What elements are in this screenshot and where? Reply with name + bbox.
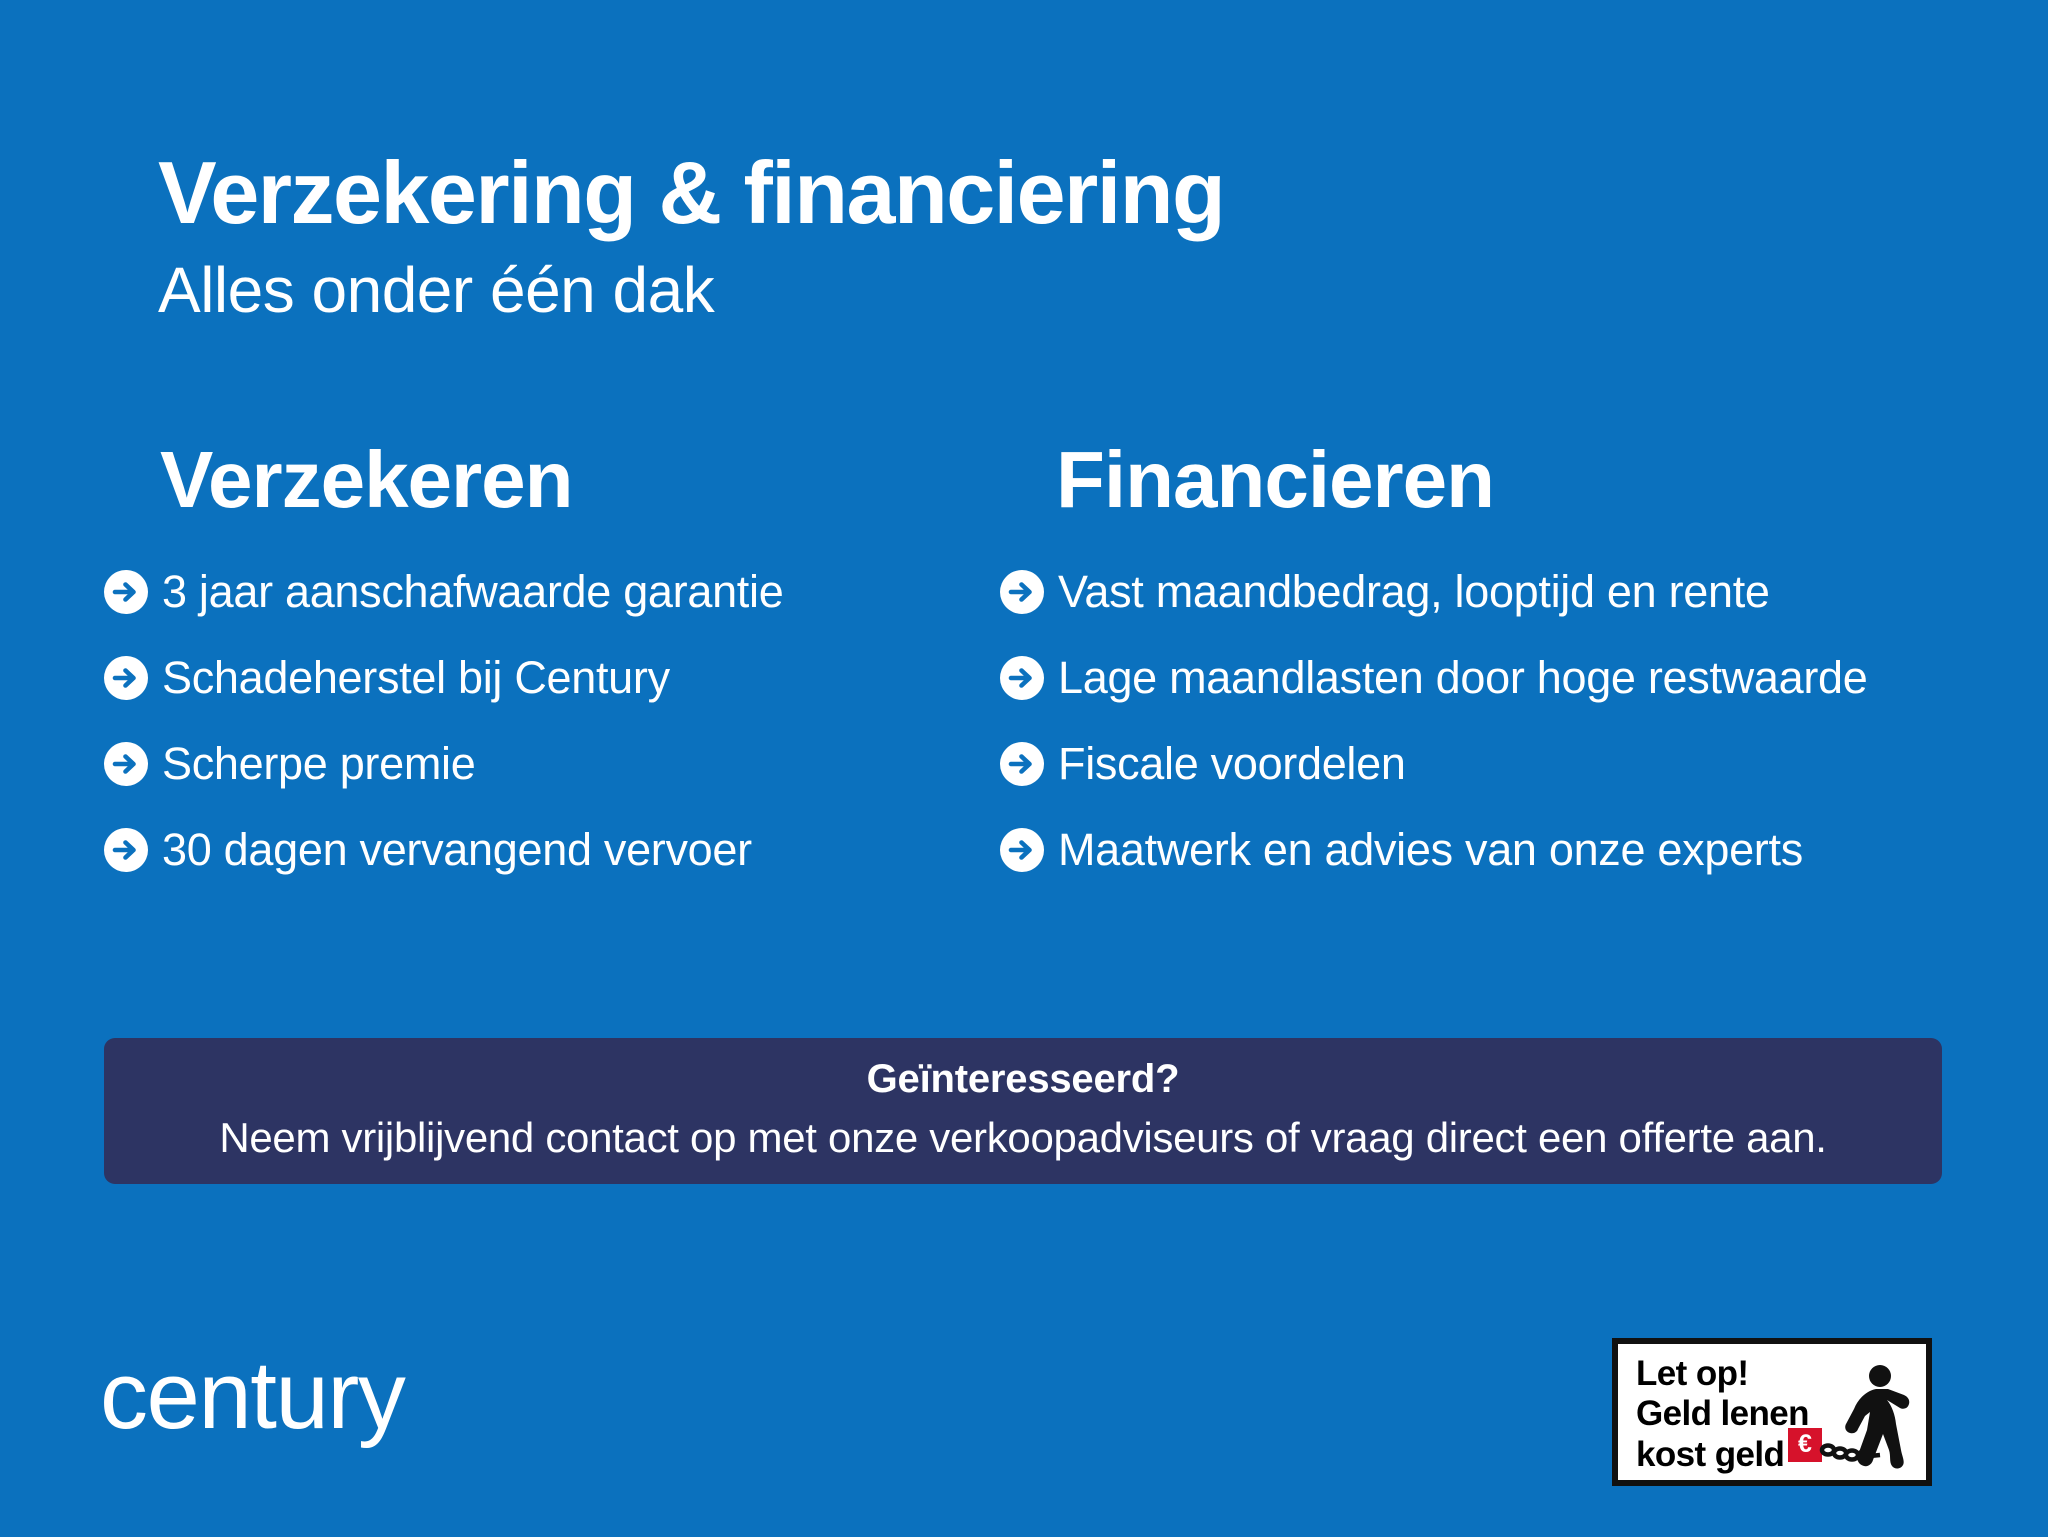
list-item-label: Fiscale voordelen — [1058, 739, 1406, 789]
column-heading-verzekeren: Verzekeren — [104, 440, 984, 520]
column-financieren: Financieren Vast maandbedrag, looptijd e… — [1000, 440, 2000, 908]
cta-heading: Geïnteresseerd? — [867, 1055, 1180, 1103]
bullet-list-financieren: Vast maandbedrag, looptijd en rente Lage… — [1000, 564, 2000, 878]
arrow-right-circle-icon — [104, 742, 148, 786]
list-item: Schadeherstel bij Century — [104, 650, 984, 706]
list-item-label: Lage maandlasten door hoge restwaarde — [1058, 653, 1867, 703]
list-item: Scherpe premie — [104, 736, 984, 792]
column-verzekeren: Verzekeren 3 jaar aanschafwaarde garanti… — [104, 440, 984, 908]
walking-person-euro-ball-and-chain-icon: € — [1788, 1362, 1920, 1474]
arrow-right-circle-icon — [104, 656, 148, 700]
list-item-label: Maatwerk en advies van onze experts — [1058, 825, 1803, 875]
column-heading-financieren: Financieren — [1000, 440, 2000, 520]
slide-root: Verzekering & financiering Alles onder é… — [0, 0, 2048, 1537]
list-item-label: 30 dagen vervangend vervoer — [162, 825, 752, 875]
arrow-right-circle-icon — [1000, 742, 1044, 786]
credit-warning-line-2: Geld lenen — [1636, 1394, 1809, 1434]
credit-warning-line-1: Let op! — [1636, 1354, 1809, 1394]
credit-warning-inner: Let op! Geld lenen kost geld € — [1618, 1344, 1926, 1480]
list-item: 3 jaar aanschafwaarde garantie — [104, 564, 984, 620]
cta-banner[interactable]: Geïnteresseerd? Neem vrijblijvend contac… — [104, 1038, 1942, 1184]
list-item-label: 3 jaar aanschafwaarde garantie — [162, 567, 783, 617]
list-item: Maatwerk en advies van onze experts — [1000, 822, 2000, 878]
list-item-label: Scherpe premie — [162, 739, 475, 789]
page-subtitle: Alles onder één dak — [158, 250, 1858, 330]
cta-body-text: Neem vrijblijvend contact op met onze ve… — [219, 1113, 1826, 1163]
arrow-right-circle-icon — [1000, 828, 1044, 872]
arrow-right-circle-icon — [104, 828, 148, 872]
list-item: 30 dagen vervangend vervoer — [104, 822, 984, 878]
arrow-right-circle-icon — [1000, 656, 1044, 700]
page-title: Verzekering & financiering — [158, 148, 1858, 238]
century-logo: century — [100, 1348, 404, 1444]
feature-columns: Verzekeren 3 jaar aanschafwaarde garanti… — [0, 440, 2048, 860]
bullet-list-verzekeren: 3 jaar aanschafwaarde garantie Schadeher… — [104, 564, 984, 878]
list-item-label: Vast maandbedrag, looptijd en rente — [1058, 567, 1770, 617]
credit-warning-box: Let op! Geld lenen kost geld € — [1612, 1338, 1932, 1486]
credit-warning-text: Let op! Geld lenen kost geld — [1636, 1354, 1809, 1475]
arrow-right-circle-icon — [104, 570, 148, 614]
arrow-right-circle-icon — [1000, 570, 1044, 614]
euro-symbol: € — [1798, 1430, 1812, 1458]
list-item: Lage maandlasten door hoge restwaarde — [1000, 650, 2000, 706]
credit-warning-line-3: kost geld — [1636, 1435, 1809, 1475]
list-item: Fiscale voordelen — [1000, 736, 2000, 792]
list-item-label: Schadeherstel bij Century — [162, 653, 670, 703]
list-item: Vast maandbedrag, looptijd en rente — [1000, 564, 2000, 620]
header-block: Verzekering & financiering Alles onder é… — [158, 148, 1858, 330]
